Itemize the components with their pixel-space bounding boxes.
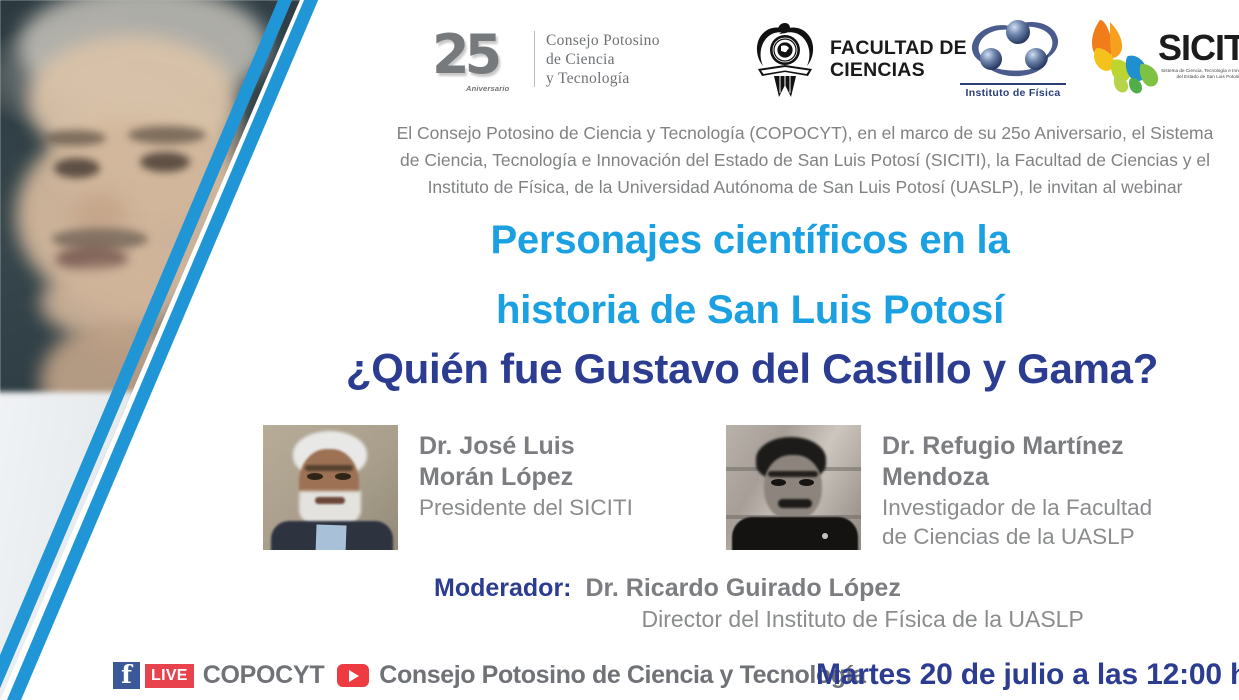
speaker-1-eye-left	[307, 473, 323, 480]
copocyt-name-line-3: y Tecnología	[546, 69, 660, 88]
speaker-2-headshot	[726, 425, 861, 550]
speaker-2-name-line-2: Mendoza	[882, 462, 1152, 493]
facebook-f-glyph: f	[113, 660, 140, 690]
speaker-1-role-line-1: Presidente del SICITI	[419, 493, 633, 522]
portrait-brow-left	[44, 130, 106, 146]
facultad-line-2: CIENCIAS	[830, 59, 967, 81]
san-luis-potosi-map-icon	[1080, 14, 1166, 100]
intro-paragraph: El Consejo Potosino de Ciencia y Tecnolo…	[300, 120, 1239, 201]
copocyt-name-line-2: de Ciencia	[546, 50, 660, 69]
copocyt-divider	[534, 31, 535, 87]
speaker-1-info: Dr. José Luis Morán López Presidente del…	[419, 425, 633, 522]
youtube-icon[interactable]	[337, 664, 369, 687]
speaker-2-role-line-1: Investigador de la Facultad	[882, 493, 1152, 522]
facultad-line-1: FACULTAD DE	[830, 37, 967, 59]
logo-row: 25 Aniversario Consejo Potosino de Cienc…	[420, 6, 1239, 106]
portrait-brow-right	[128, 126, 206, 144]
speaker-1-name-line-1: Dr. José Luis	[419, 431, 633, 462]
speaker-1-eye-right	[335, 473, 351, 480]
speaker-1-brow	[305, 465, 353, 471]
speaker-card-1: Dr. José Luis Morán López Presidente del…	[263, 425, 633, 550]
instituto-de-fisica-logo: Instituto de Física	[960, 14, 1075, 106]
speaker-1-name-line-2: Morán López	[419, 462, 633, 493]
speaker-2-moustache	[778, 499, 812, 508]
moderator-role: Director del Instituto de Física de la U…	[642, 604, 1084, 635]
event-date-time: Martes 20 de julio a las 12:00 h	[816, 658, 1239, 692]
instituto-fisica-label: Instituto de Física	[960, 87, 1066, 99]
siciti-logo: SICITI Sistema de Ciencia, Tecnología e …	[1080, 14, 1239, 104]
portrait-tie	[134, 413, 218, 609]
speaker-2-eye-right	[799, 479, 814, 486]
speaker-1-mouth	[315, 497, 345, 504]
facebook-icon[interactable]: f	[113, 662, 140, 689]
moderator-block: Moderador: Dr. Ricardo Guirado López Dir…	[434, 572, 1084, 635]
moderator-label: Moderador:	[434, 572, 572, 604]
speaker-1-headshot	[263, 425, 398, 550]
webinar-subtitle-question: ¿Quién fue Gustavo del Castillo y Gama?	[232, 345, 1239, 393]
siciti-subtitle: Sistema de Ciencia, Tecnología e Innovac…	[1160, 68, 1239, 80]
play-triangle-icon	[349, 670, 359, 682]
webinar-title-line-1: Personajes científicos en la	[300, 218, 1200, 263]
speaker-2-info: Dr. Refugio Martínez Mendoza Investigado…	[882, 425, 1152, 551]
live-badge: LIVE	[145, 664, 194, 688]
webinar-poster: 25 Aniversario Consejo Potosino de Cienc…	[0, 0, 1239, 700]
portrait-eye-right	[140, 152, 190, 172]
instituto-fisica-rule	[960, 83, 1066, 85]
intro-line-1: El Consejo Potosino de Ciencia y Tecnolo…	[300, 120, 1239, 147]
speaker-2-brow	[768, 471, 818, 477]
atom-orbitals-icon	[960, 14, 1068, 82]
copocyt-25-aniversario-mark: 25 Aniversario	[430, 26, 530, 92]
moderator-details: Dr. Ricardo Guirado López Director del I…	[586, 572, 1084, 635]
webinar-title-line-2: historia de San Luis Potosí	[300, 288, 1200, 333]
facultad-wordmark: FACULTAD DE CIENCIAS	[830, 37, 967, 81]
intro-line-3: Instituto de Física, de la Universidad A…	[300, 174, 1239, 201]
speaker-2-eye-left	[771, 479, 786, 486]
siciti-wordmark: SICITI	[1158, 30, 1239, 66]
moderator-name: Dr. Ricardo Guirado López	[586, 572, 1084, 604]
speaker-2-role-line-2: de Ciencias de la UASLP	[882, 522, 1152, 551]
youtube-channel-name[interactable]: Consejo Potosino de Ciencia y Tecnología	[379, 661, 865, 690]
speaker-2-lapel-pin	[822, 533, 828, 539]
speaker-2-name-line-1: Dr. Refugio Martínez	[882, 431, 1152, 462]
anniversary-word: Aniversario	[466, 84, 509, 93]
facultad-de-ciencias-logo: FACULTAD DE CIENCIAS	[750, 18, 990, 100]
footer-social-bar: f LIVE COPOCYT Consejo Potosino de Cienc…	[113, 661, 866, 690]
speaker-1-shirt	[315, 524, 346, 550]
anniversary-number: 25	[432, 28, 497, 82]
copocyt-wordmark: Consejo Potosino de Ciencia y Tecnología	[546, 31, 660, 88]
speaker-2-jacket	[732, 517, 858, 550]
intro-line-2: de Ciencia, Tecnología e Innovación del …	[300, 147, 1239, 174]
portrait-eye-left	[54, 158, 100, 178]
speaker-card-2: Dr. Refugio Martínez Mendoza Investigado…	[726, 425, 1152, 551]
copocyt-logo: 25 Aniversario Consejo Potosino de Cienc…	[430, 24, 695, 94]
uaslp-eagle-shield-icon	[750, 19, 820, 99]
speaker-2-face	[764, 455, 822, 521]
copocyt-name-line-1: Consejo Potosino	[546, 31, 660, 50]
facebook-page-name[interactable]: COPOCYT	[203, 661, 325, 690]
